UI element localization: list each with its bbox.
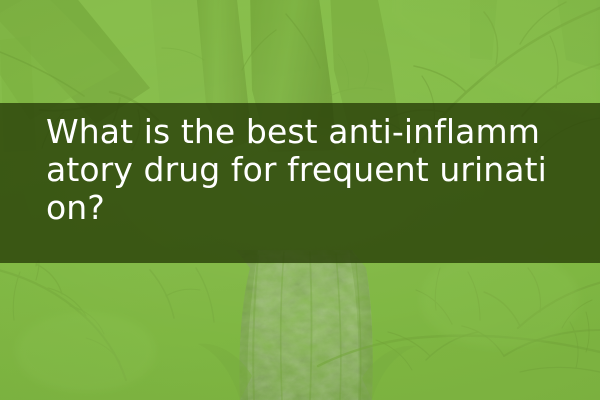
caption-band: What is the best anti-inflammatory drug … [0,103,600,263]
question-text: What is the best anti-inflammatory drug … [46,113,558,227]
question-image-card: What is the best anti-inflammatory drug … [0,0,600,400]
